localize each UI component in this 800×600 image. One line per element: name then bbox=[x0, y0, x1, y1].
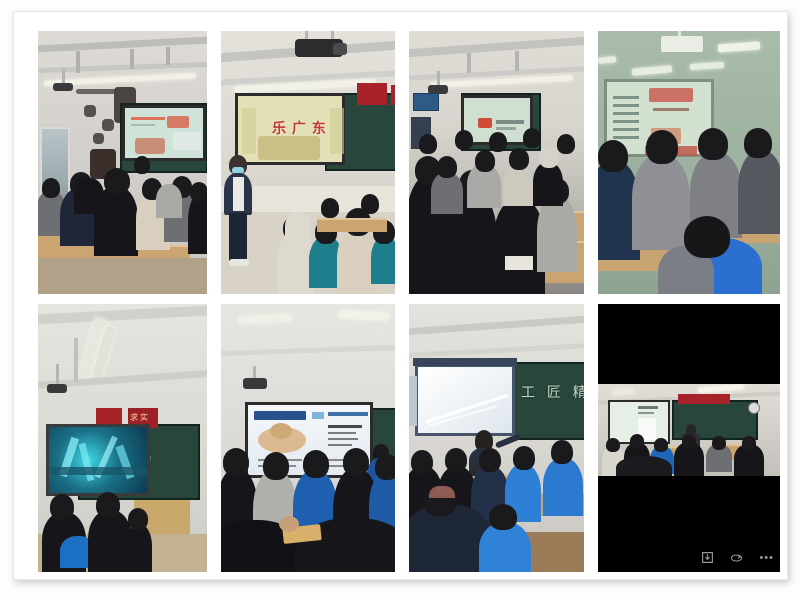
video-letterbox-top bbox=[598, 304, 780, 384]
video-frame[interactable] bbox=[598, 384, 780, 476]
photo-tile-4[interactable] bbox=[598, 31, 780, 294]
photo-3-scene bbox=[409, 31, 584, 294]
photo-tile-5[interactable]: 求实 工匠精神 bbox=[38, 304, 207, 572]
more-options-icon[interactable]: ••• bbox=[759, 554, 774, 562]
video-controls: ••• bbox=[701, 551, 774, 564]
projector-icon bbox=[47, 384, 67, 393]
collage-card: 乐 广 东 bbox=[13, 11, 788, 580]
photo-tile-7[interactable]: 工 匠 精 bbox=[409, 304, 584, 572]
share-icon[interactable] bbox=[730, 551, 743, 564]
projector-icon bbox=[660, 35, 704, 53]
projector-icon bbox=[53, 83, 73, 91]
photo-tile-2[interactable]: 乐 广 东 bbox=[221, 31, 395, 294]
photo-tile-6[interactable] bbox=[221, 304, 395, 572]
photo-5-scene: 求实 工匠精神 bbox=[38, 304, 207, 572]
banner-text-cn: 求实 bbox=[130, 412, 150, 423]
photo-4-scene bbox=[598, 31, 780, 294]
screen-text-cn: 乐 广 东 bbox=[272, 118, 327, 138]
collage-page: 乐 广 东 bbox=[0, 0, 800, 600]
photo-2-scene: 乐 广 东 bbox=[221, 31, 395, 294]
photo-grid: 乐 广 东 bbox=[38, 31, 775, 572]
download-icon[interactable] bbox=[701, 551, 714, 564]
photo-1-scene bbox=[38, 31, 207, 294]
photo-tile-1[interactable] bbox=[38, 31, 207, 294]
projector-icon bbox=[243, 378, 267, 389]
photo-6-scene bbox=[221, 304, 395, 572]
photo-tile-3[interactable] bbox=[409, 31, 584, 294]
photo-tile-8-video-player[interactable]: ••• bbox=[598, 304, 780, 572]
photo-7-scene: 工 匠 精 bbox=[409, 304, 584, 572]
